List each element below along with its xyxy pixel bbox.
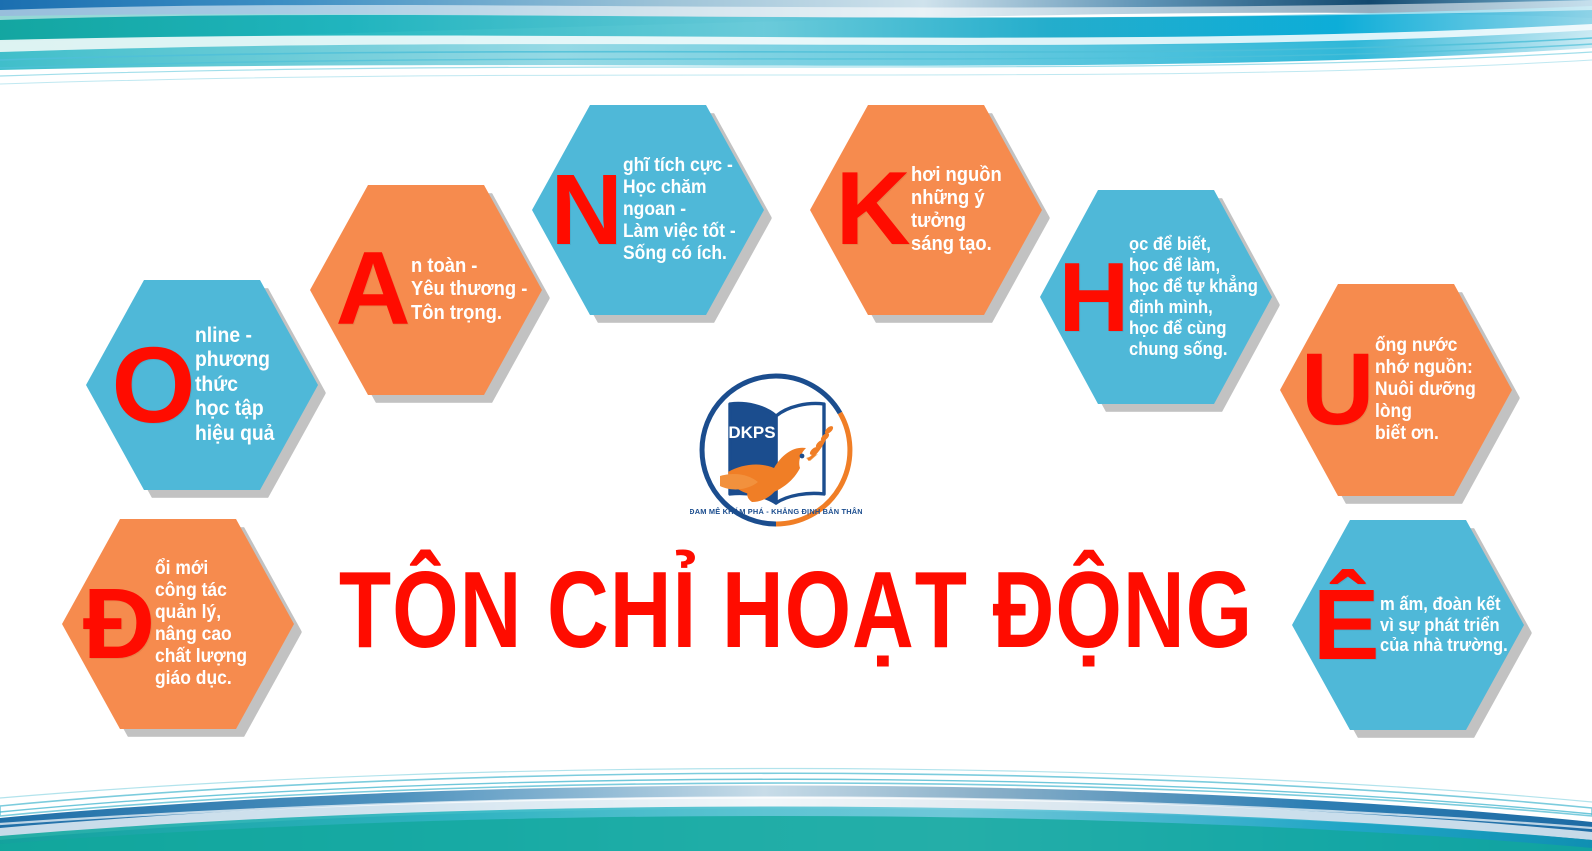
bottom-wave-decoration xyxy=(0,736,1592,851)
top-wave-decoration xyxy=(0,0,1592,105)
school-logo: DKPS ĐAM MÊ KHÁM PHÁ - KHẲNG ĐỊNH BẢN TH… xyxy=(690,368,862,533)
hex-n-letter: N xyxy=(551,169,621,251)
page-title-text: TÔN CHỈ HOẠT ĐỘNG xyxy=(339,556,1253,665)
logo-motto: ĐAM MÊ KHÁM PHÁ - KHẲNG ĐỊNH BẢN THÂN xyxy=(690,507,862,516)
hex-o-letter: O xyxy=(112,341,194,430)
logo-acronym: DKPS xyxy=(728,423,775,442)
hex-a-letter: A xyxy=(336,247,409,332)
hex-u-letter: U xyxy=(1301,348,1373,432)
page-title: TÔN CHỈ HOẠT ĐỘNG xyxy=(56,556,1537,665)
hex-k-letter: K xyxy=(836,167,909,252)
hex-n-text: ghĩ tích cực - Học chăm ngoan - Làm việc… xyxy=(623,155,753,265)
hex-h-text: ọc để biết, học để làm, học để tự khẳng … xyxy=(1129,234,1258,359)
hex-u-text: ống nước nhớ nguồn: Nuôi dưỡng lòng biết… xyxy=(1375,335,1502,445)
hex-h-letter: H xyxy=(1059,257,1128,337)
hex-a-text: n toàn - Yêu thương - Tôn trọng. xyxy=(411,255,527,325)
hex-k-text: hơi nguồn những ý tưởng sáng tạo. xyxy=(911,164,1032,257)
hex-o-text: nline - phương thức học tập hiệu quả xyxy=(195,324,308,446)
infographic-canvas: O nline - phương thức học tập hiệu quả Đ… xyxy=(0,0,1592,851)
